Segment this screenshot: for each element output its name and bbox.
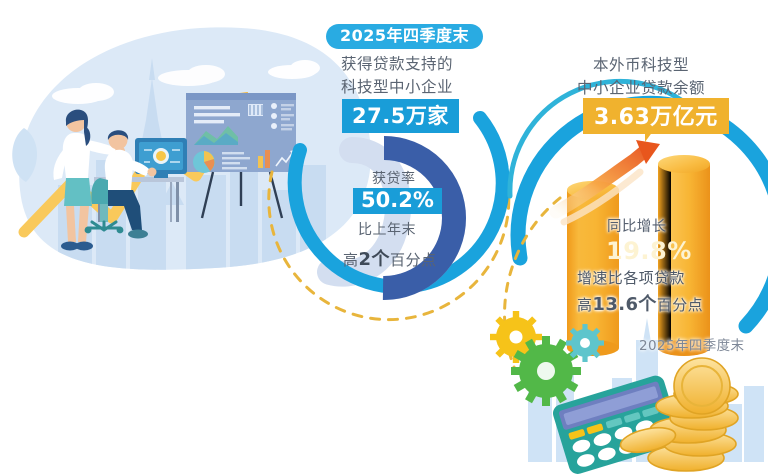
bubble-tail bbox=[645, 127, 656, 142]
growth-label: 同比增长 bbox=[607, 215, 667, 236]
center-period-badge: 2025年四季度末 bbox=[326, 24, 483, 49]
right-headline-line-1: 本外币科技型 bbox=[593, 53, 689, 75]
note-prefix: 高 bbox=[577, 296, 592, 314]
loan-rate-label: 获贷率 bbox=[372, 168, 416, 188]
compare-number: 2个 bbox=[359, 249, 391, 270]
right-footer-period: 2025年四季度末 bbox=[639, 334, 744, 354]
center-headline-value: 27.5万家 bbox=[342, 99, 459, 133]
loan-rate-value: 50.2% bbox=[353, 188, 442, 214]
loan-rate-compare-line: 高2个百分点 bbox=[343, 245, 437, 271]
note-number: 13.6个 bbox=[592, 294, 656, 315]
compare-prefix: 高 bbox=[343, 251, 359, 269]
gears-group bbox=[490, 311, 604, 406]
right-headline-line-2: 中小企业贷款余额 bbox=[577, 76, 705, 98]
note-suffix: 百分点 bbox=[657, 296, 703, 314]
center-headline-line-2: 科技型中小企业 bbox=[341, 78, 453, 97]
gear-teal bbox=[566, 324, 604, 362]
center-headline-line-1: 获得贷款支持的 bbox=[341, 55, 453, 74]
infographic-canvas: 2025年四季度末 获得贷款支持的 科技型中小企业 27.5万家 获贷率 50.… bbox=[0, 0, 768, 475]
loan-rate-compare-label: 比上年末 bbox=[358, 219, 416, 239]
growth-value: 19.8% bbox=[606, 237, 692, 265]
right-headline-value-bubble: 3.63万亿元 bbox=[583, 98, 729, 134]
growth-note-label: 增速比各项贷款 bbox=[577, 267, 685, 288]
growth-note-line: 高13.6个百分点 bbox=[577, 290, 703, 316]
compare-suffix: 百分点 bbox=[390, 251, 437, 269]
